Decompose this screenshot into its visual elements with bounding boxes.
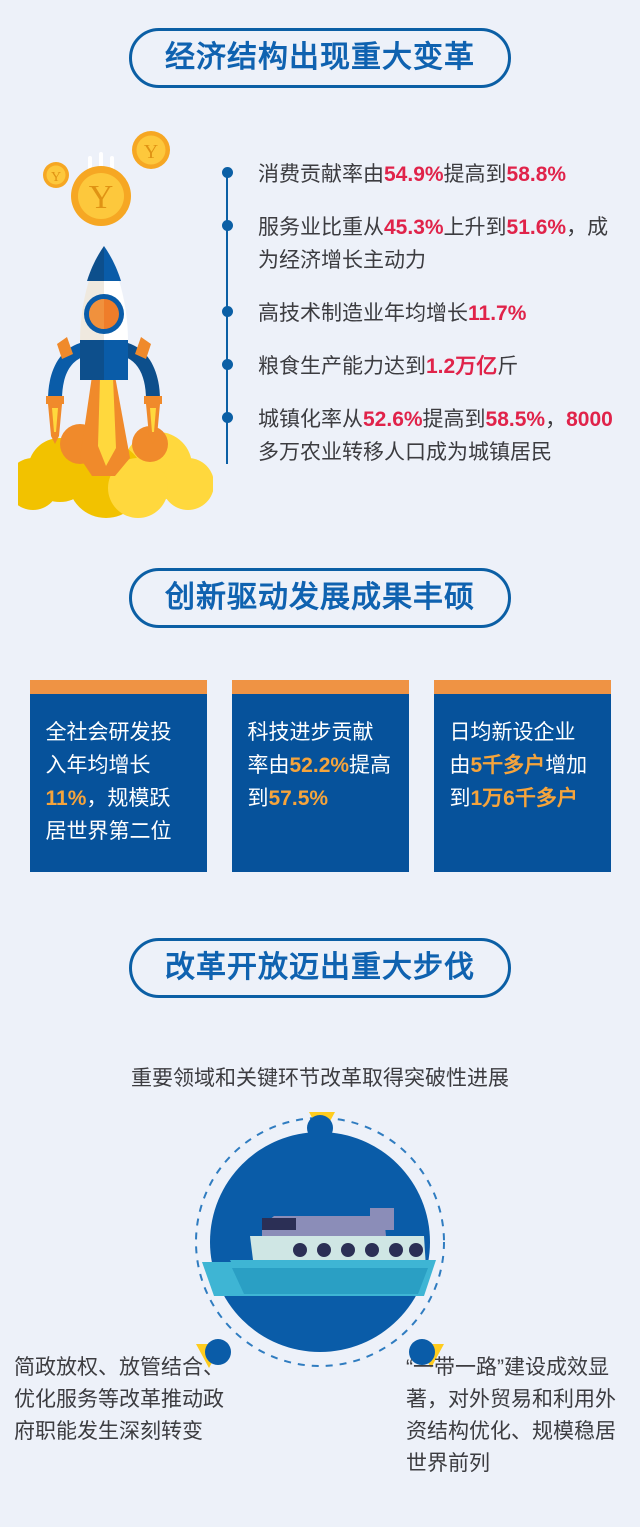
cruise-ship-circle-illustration bbox=[188, 1110, 452, 1374]
highlight-value: 11% bbox=[46, 787, 87, 810]
list-item: 高技术制造业年均增长11.7% bbox=[222, 297, 624, 330]
plain-text: 服务业比重从 bbox=[258, 216, 384, 239]
bullet-dot-icon bbox=[222, 220, 233, 231]
card-body: 全社会研发投入年均增长11%，规模跃居世界第二位 bbox=[30, 694, 207, 872]
caption-belt-and-road: “一带一路”建设成效显著，对外贸易和利用外资结构优化、规模稳居世界前列 bbox=[406, 1352, 636, 1480]
svg-text:Y: Y bbox=[51, 170, 61, 185]
plain-text: 多万农业转移人口成为城镇居民 bbox=[258, 441, 552, 464]
highlight-value: 52.2% bbox=[290, 754, 350, 777]
section-title-reform: 改革开放迈出重大步伐 bbox=[129, 938, 511, 998]
card-body: 科技进步贡献率由52.2%提高到57.5% bbox=[232, 694, 409, 854]
bullet-dot-icon bbox=[222, 412, 233, 423]
bullet-dot-icon bbox=[222, 306, 233, 317]
highlight-value: 58.5% bbox=[486, 408, 546, 431]
highlight-value: 8000 bbox=[566, 408, 613, 431]
section-title-text: 经济结构出现重大变革 bbox=[165, 43, 475, 73]
plain-text: 高技术制造业年均增长 bbox=[258, 302, 468, 325]
highlight-value: 5千多户 bbox=[471, 754, 546, 777]
card-body: 日均新设企业由5千多户增加到1万6千多户 bbox=[434, 694, 611, 854]
rocket-body bbox=[80, 246, 128, 380]
list-item: 粮食生产能力达到1.2万亿斤 bbox=[222, 350, 624, 383]
plain-text: ， bbox=[545, 408, 566, 431]
plain-text: 消费贡献率由 bbox=[258, 163, 384, 186]
list-item: 服务业比重从45.3%上升到51.6%，成为经济增长主动力 bbox=[222, 211, 624, 277]
highlight-value: 54.9% bbox=[384, 163, 444, 186]
plain-text: 全社会研发投入年均增长 bbox=[46, 721, 172, 777]
plain-text: 城镇化率从 bbox=[258, 408, 363, 431]
card-text: 全社会研发投入年均增长11%，规模跃居世界第二位 bbox=[46, 716, 191, 848]
section-title-economic-structure: 经济结构出现重大变革 bbox=[129, 28, 511, 88]
svg-text:Y: Y bbox=[144, 141, 158, 163]
card-top-bar bbox=[232, 680, 409, 694]
rocket-illustration: Y Y Y bbox=[18, 128, 213, 518]
yen-coin-large: Y bbox=[71, 166, 131, 226]
yen-coin-top-right: Y bbox=[132, 131, 170, 169]
card-text: 科技进步贡献率由52.2%提高到57.5% bbox=[248, 716, 393, 815]
list-item: 消费贡献率由54.9%提高到58.8% bbox=[222, 158, 624, 191]
bullet-dot-icon bbox=[222, 167, 233, 178]
card-top-bar bbox=[434, 680, 611, 694]
bullet-text: 高技术制造业年均增长11.7% bbox=[258, 297, 624, 330]
highlight-value: 52.6% bbox=[363, 408, 423, 431]
card-text: 日均新设企业由5千多户增加到1万6千多户 bbox=[450, 716, 595, 815]
list-item: 城镇化率从52.6%提高到58.5%，8000多万农业转移人口成为城镇居民 bbox=[222, 403, 624, 469]
bullet-dot-icon bbox=[222, 359, 233, 370]
economic-bullet-list: 消费贡献率由54.9%提高到58.8% 服务业比重从45.3%上升到51.6%，… bbox=[222, 158, 624, 469]
section-title-innovation: 创新驱动发展成果丰硕 bbox=[129, 568, 511, 628]
stat-card: 日均新设企业由5千多户增加到1万6千多户 bbox=[434, 680, 611, 872]
infographic-page: 经济结构出现重大变革 Y Y bbox=[0, 0, 640, 1527]
section-title-text: 改革开放迈出重大步伐 bbox=[165, 953, 475, 983]
svg-text:Y: Y bbox=[89, 179, 114, 216]
stat-card: 全社会研发投入年均增长11%，规模跃居世界第二位 bbox=[30, 680, 207, 872]
yen-coin-small-left: Y bbox=[43, 162, 69, 188]
innovation-stat-cards: 全社会研发投入年均增长11%，规模跃居世界第二位 科技进步贡献率由52.2%提高… bbox=[0, 680, 640, 872]
bullet-text: 粮食生产能力达到1.2万亿斤 bbox=[258, 350, 624, 383]
highlight-value: 1万6千多户 bbox=[471, 787, 578, 810]
section-title-text: 创新驱动发展成果丰硕 bbox=[165, 583, 475, 613]
plain-text: 提高到 bbox=[423, 408, 486, 431]
plain-text: 提高到 bbox=[444, 163, 507, 186]
reform-lead-text: 重要领域和关键环节改革取得突破性进展 bbox=[0, 1062, 640, 1092]
highlight-value: 45.3% bbox=[384, 216, 444, 239]
plain-text: 斤 bbox=[497, 355, 518, 378]
highlight-value: 57.5% bbox=[269, 787, 329, 810]
highlight-value: 1.2万亿 bbox=[426, 355, 497, 378]
bullet-text: 消费贡献率由54.9%提高到58.8% bbox=[258, 158, 624, 191]
bullet-text: 城镇化率从52.6%提高到58.5%，8000多万农业转移人口成为城镇居民 bbox=[258, 403, 624, 469]
plain-text: 上升到 bbox=[444, 216, 507, 239]
highlight-value: 58.8% bbox=[507, 163, 567, 186]
highlight-value: 11.7% bbox=[468, 302, 526, 325]
plain-text: 粮食生产能力达到 bbox=[258, 355, 426, 378]
card-top-bar bbox=[30, 680, 207, 694]
caption-government-reform: 简政放权、放管结合、优化服务等改革推动政府职能发生深刻转变 bbox=[14, 1352, 244, 1448]
highlight-value: 51.6% bbox=[507, 216, 567, 239]
bullet-text: 服务业比重从45.3%上升到51.6%，成为经济增长主动力 bbox=[258, 211, 624, 277]
stat-card: 科技进步贡献率由52.2%提高到57.5% bbox=[232, 680, 409, 872]
rocket-flame bbox=[80, 376, 130, 476]
